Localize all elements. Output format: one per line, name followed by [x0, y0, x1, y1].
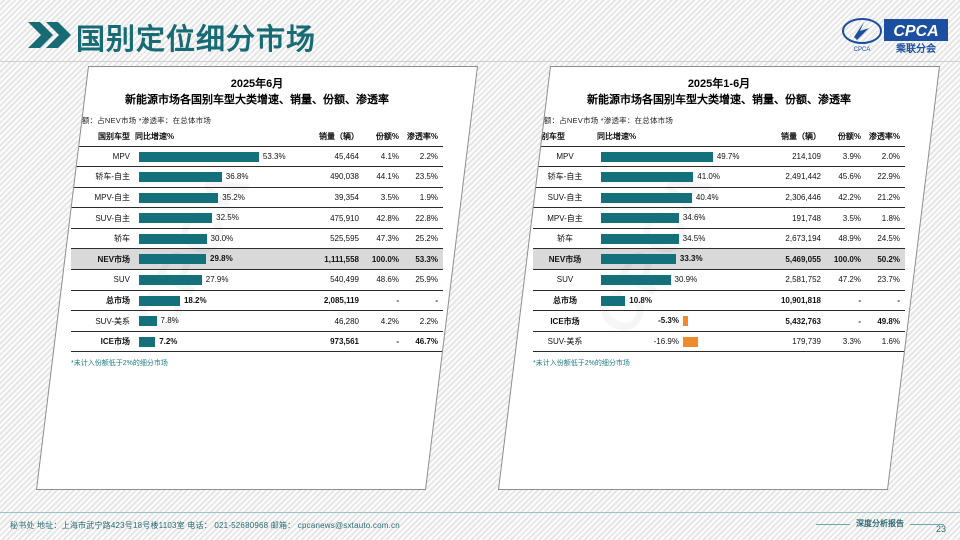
growth-value: 32.5% [216, 212, 239, 223]
cell-share: 45.6% [825, 167, 865, 188]
cell-sales: 45,464 [303, 146, 363, 167]
cell-penetration: 23.7% [865, 270, 905, 291]
cell-model: SUV [71, 270, 135, 291]
growth-bar [601, 296, 625, 306]
cell-growth-bar: 30.0% [135, 228, 303, 249]
growth-value: 40.4% [696, 192, 719, 203]
growth-value: 35.2% [222, 192, 245, 203]
cell-penetration: 50.2% [865, 249, 905, 270]
cell-growth-bar: 34.5% [597, 228, 765, 249]
cell-penetration: 22.8% [403, 208, 443, 229]
col-header-sales: 销量（辆） [303, 129, 363, 146]
cell-penetration: 24.5% [865, 228, 905, 249]
cell-model: MPV-自主 [71, 187, 135, 208]
left-table-title-line1: 2025年6月 [63, 67, 451, 92]
growth-bar [601, 254, 676, 264]
header-divider [0, 61, 960, 62]
cell-sales: 490,038 [303, 167, 363, 188]
cell-sales: 5,469,055 [765, 249, 825, 270]
col-header-model: 国别车型 [533, 129, 597, 146]
cell-sales: 179,739 [765, 331, 825, 352]
left-table-body: MPV53.3%45,4644.1%2.2%轿车-自主36.8%490,0384… [71, 146, 443, 352]
growth-bar [139, 275, 202, 285]
cell-growth-bar: 35.2% [135, 187, 303, 208]
cell-penetration: 23.5% [403, 167, 443, 188]
col-header-growth: 同比增速% [135, 129, 303, 146]
cell-model: NEV市场 [533, 249, 597, 270]
growth-value: 33.3% [680, 253, 703, 264]
right-table-note: *份额：占NEV市场 *渗透率：在总体市场 [525, 108, 913, 129]
cell-model: MPV [533, 146, 597, 167]
cell-share: 48.9% [825, 228, 865, 249]
table-row: ICE市场7.2%973,561-46.7% [71, 331, 443, 352]
right-table-panel: CPCA 2025年1-6月 新能源市场各国别车型大类增速、销量、份额、渗透率 … [498, 66, 940, 490]
growth-bar [139, 213, 212, 223]
cell-penetration: 2.2% [403, 146, 443, 167]
growth-value: 49.7% [717, 151, 740, 162]
slide-header: 国别定位细分市场 [0, 0, 960, 62]
growth-bar [601, 152, 713, 162]
cell-model: SUV-美系 [533, 331, 597, 352]
cell-model: 轿车 [533, 228, 597, 249]
cell-model: ICE市场 [71, 331, 135, 352]
right-table-title-line1: 2025年1-6月 [525, 67, 913, 92]
cell-share: - [363, 290, 403, 311]
table-row: 轿车-自主41.0%2,491,44245.6%22.9% [533, 167, 905, 188]
cell-growth-bar: 41.0% [597, 167, 765, 188]
right-data-table: 国别车型 同比增速% 销量（辆） 份额% 渗透率% MPV49.7%214,10… [533, 129, 905, 352]
col-header-model: 国别车型 [71, 129, 135, 146]
cell-growth-bar: 18.2% [135, 290, 303, 311]
footer-brand: 深度分析报告 [856, 518, 904, 529]
right-table-body: MPV49.7%214,1093.9%2.0%轿车-自主41.0%2,491,4… [533, 146, 905, 352]
cell-growth-bar: 36.8% [135, 167, 303, 188]
cell-share: 100.0% [825, 249, 865, 270]
growth-bar [601, 275, 671, 285]
cell-sales: 973,561 [303, 331, 363, 352]
cell-share: 4.2% [363, 311, 403, 332]
growth-bar [683, 337, 698, 347]
cell-model: SUV [533, 270, 597, 291]
cell-share: 44.1% [363, 167, 403, 188]
double-chevron-right-icon [28, 22, 74, 48]
table-row: SUV-美系7.8%46,2804.2%2.2% [71, 311, 443, 332]
right-table-title-line2: 新能源市场各国别车型大类增速、销量、份额、渗透率 [525, 92, 913, 108]
cpca-logo: CPCA 乘联分会 CPCA [842, 16, 950, 56]
cell-sales: 525,595 [303, 228, 363, 249]
svg-text:CPCA: CPCA [854, 47, 871, 53]
table-row: NEV市场29.8%1,111,558100.0%53.3% [71, 249, 443, 270]
left-data-table: 国别车型 同比增速% 销量（辆） 份额% 渗透率% MPV53.3%45,464… [71, 129, 443, 352]
cell-model: 轿车-自主 [71, 167, 135, 188]
table-header-row: 国别车型 同比增速% 销量（辆） 份额% 渗透率% [71, 129, 443, 146]
cell-model: ICE市场 [533, 311, 597, 332]
growth-bar [139, 337, 155, 347]
cell-growth-bar: 33.3% [597, 249, 765, 270]
growth-value: 30.9% [675, 274, 698, 285]
growth-value: -5.3% [641, 315, 679, 326]
table-row: 轿车30.0%525,59547.3%25.2% [71, 228, 443, 249]
cell-growth-bar: 29.8% [135, 249, 303, 270]
cell-growth-bar: 27.9% [135, 270, 303, 291]
left-table-note: *份额：占NEV市场 *渗透率：在总体市场 [63, 108, 451, 129]
cell-growth-bar: 32.5% [135, 208, 303, 229]
cell-share: 3.5% [363, 187, 403, 208]
cell-share: 3.3% [825, 331, 865, 352]
table-row: ICE市场-5.3%5,432,763-49.8% [533, 311, 905, 332]
svg-text:CPCA: CPCA [893, 23, 938, 40]
growth-bar [139, 316, 157, 326]
growth-bar [139, 193, 218, 203]
col-header-penetration: 渗透率% [865, 129, 905, 146]
table-row: SUV27.9%540,49948.6%25.9% [71, 270, 443, 291]
cell-sales: 475,910 [303, 208, 363, 229]
cell-penetration: 25.2% [403, 228, 443, 249]
cell-penetration: 1.9% [403, 187, 443, 208]
cell-sales: 2,673,194 [765, 228, 825, 249]
cell-penetration: 46.7% [403, 331, 443, 352]
cell-model: 轿车 [71, 228, 135, 249]
cell-sales: 1,111,558 [303, 249, 363, 270]
cell-growth-bar: 34.6% [597, 208, 765, 229]
growth-bar [601, 193, 692, 203]
table-row: 轿车34.5%2,673,19448.9%24.5% [533, 228, 905, 249]
table-row: MPV-自主34.6%191,7483.5%1.8% [533, 208, 905, 229]
table-row: MPV53.3%45,4644.1%2.2% [71, 146, 443, 167]
cell-sales: 2,085,119 [303, 290, 363, 311]
cell-model: SUV-自主 [533, 187, 597, 208]
growth-value: 41.0% [697, 171, 720, 182]
cell-growth-bar: 30.9% [597, 270, 765, 291]
cell-penetration: 22.9% [865, 167, 905, 188]
cell-growth-bar: 10.8% [597, 290, 765, 311]
cell-penetration: 2.2% [403, 311, 443, 332]
col-header-sales: 销量（辆） [765, 129, 825, 146]
cell-growth-bar: 7.8% [135, 311, 303, 332]
cell-sales: 191,748 [765, 208, 825, 229]
left-table-footnote: *未计入份额低于2%的细分市场 [63, 352, 451, 368]
growth-value: -16.9% [641, 336, 679, 347]
cell-share: 100.0% [363, 249, 403, 270]
cell-penetration: 49.8% [865, 311, 905, 332]
cell-sales: 540,499 [303, 270, 363, 291]
cell-sales: 214,109 [765, 146, 825, 167]
growth-value: 10.8% [629, 295, 652, 306]
growth-bar [601, 172, 693, 182]
table-row: SUV30.9%2,581,75247.2%23.7% [533, 270, 905, 291]
cell-growth-bar: 40.4% [597, 187, 765, 208]
cell-share: 3.5% [825, 208, 865, 229]
cell-model: MPV-自主 [533, 208, 597, 229]
table-row: 总市场10.8%10,901,818-- [533, 290, 905, 311]
growth-bar [139, 234, 207, 244]
col-header-growth: 同比增速% [597, 129, 765, 146]
growth-value: 18.2% [184, 295, 207, 306]
footer-divider [0, 512, 960, 513]
cell-sales: 2,491,442 [765, 167, 825, 188]
table-row: 轿车-自主36.8%490,03844.1%23.5% [71, 167, 443, 188]
cell-growth-bar: 49.7% [597, 146, 765, 167]
cell-sales: 2,306,446 [765, 187, 825, 208]
cell-model: MPV [71, 146, 135, 167]
growth-bar [139, 152, 259, 162]
table-row: 总市场18.2%2,085,119-- [71, 290, 443, 311]
growth-value: 27.9% [206, 274, 229, 285]
growth-value: 53.3% [263, 151, 286, 162]
table-row: SUV-美系-16.9%179,7393.3%1.6% [533, 331, 905, 352]
cell-share: 42.8% [363, 208, 403, 229]
cell-penetration: - [403, 290, 443, 311]
cell-share: 42.2% [825, 187, 865, 208]
page-number: 23 [936, 524, 946, 534]
footer-contact: 秘书处 地址：上海市武宁路423号18号楼1103室 电话： 021-52680… [10, 520, 400, 531]
cell-growth-bar: -5.3% [597, 311, 765, 332]
cell-model: 轿车-自主 [533, 167, 597, 188]
growth-value: 7.8% [161, 315, 179, 326]
growth-value: 34.5% [683, 233, 706, 244]
table-row: MPV-自主35.2%39,3543.5%1.9% [71, 187, 443, 208]
cell-model: NEV市场 [71, 249, 135, 270]
cell-penetration: 1.8% [865, 208, 905, 229]
left-table-panel: CPCA 2025年6月 新能源市场各国别车型大类增速、销量、份额、渗透率 *份… [36, 66, 478, 490]
cell-share: 47.2% [825, 270, 865, 291]
cell-share: 4.1% [363, 146, 403, 167]
cell-model: 总市场 [71, 290, 135, 311]
growth-value: 34.6% [683, 212, 706, 223]
cell-share: 47.3% [363, 228, 403, 249]
cell-model: SUV-美系 [71, 311, 135, 332]
cell-model: 总市场 [533, 290, 597, 311]
slide-canvas: 国别定位细分市场 CPCA 乘联分会 CPCA CPCA 2025年6月 新能源… [0, 0, 960, 540]
page-title: 国别定位细分市场 [76, 16, 316, 58]
growth-bar [139, 254, 206, 264]
cell-share: - [825, 311, 865, 332]
col-header-share: 份额% [825, 129, 865, 146]
growth-value: 7.2% [159, 336, 177, 347]
cell-penetration: 1.6% [865, 331, 905, 352]
growth-bar [139, 296, 180, 306]
cell-sales: 5,432,763 [765, 311, 825, 332]
svg-text:乘联分会: 乘联分会 [895, 42, 936, 55]
growth-bar [601, 213, 679, 223]
table-row: NEV市场33.3%5,469,055100.0%50.2% [533, 249, 905, 270]
cell-model: SUV-自主 [71, 208, 135, 229]
growth-bar [139, 172, 222, 182]
cell-sales: 46,280 [303, 311, 363, 332]
cell-penetration: 53.3% [403, 249, 443, 270]
cell-share: - [825, 290, 865, 311]
cell-share: 48.6% [363, 270, 403, 291]
cell-penetration: 2.0% [865, 146, 905, 167]
cell-growth-bar: -16.9% [597, 331, 765, 352]
table-row: MPV49.7%214,1093.9%2.0% [533, 146, 905, 167]
table-row: SUV-自主40.4%2,306,44642.2%21.2% [533, 187, 905, 208]
cell-share: - [363, 331, 403, 352]
growth-value: 36.8% [226, 171, 249, 182]
cell-penetration: 21.2% [865, 187, 905, 208]
cell-sales: 10,901,818 [765, 290, 825, 311]
cell-growth-bar: 7.2% [135, 331, 303, 352]
growth-value: 29.8% [210, 253, 233, 264]
right-table-footnote: *未计入份额低于2%的细分市场 [525, 352, 913, 368]
table-row: SUV-自主32.5%475,91042.8%22.8% [71, 208, 443, 229]
left-table-title-line2: 新能源市场各国别车型大类增速、销量、份额、渗透率 [63, 92, 451, 108]
growth-value: 30.0% [211, 233, 234, 244]
col-header-share: 份额% [363, 129, 403, 146]
growth-bar [683, 316, 688, 326]
col-header-penetration: 渗透率% [403, 129, 443, 146]
cell-sales: 2,581,752 [765, 270, 825, 291]
growth-bar [601, 234, 679, 244]
cell-penetration: 25.9% [403, 270, 443, 291]
table-header-row: 国别车型 同比增速% 销量（辆） 份额% 渗透率% [533, 129, 905, 146]
cell-penetration: - [865, 290, 905, 311]
cell-growth-bar: 53.3% [135, 146, 303, 167]
cell-sales: 39,354 [303, 187, 363, 208]
cell-share: 3.9% [825, 146, 865, 167]
